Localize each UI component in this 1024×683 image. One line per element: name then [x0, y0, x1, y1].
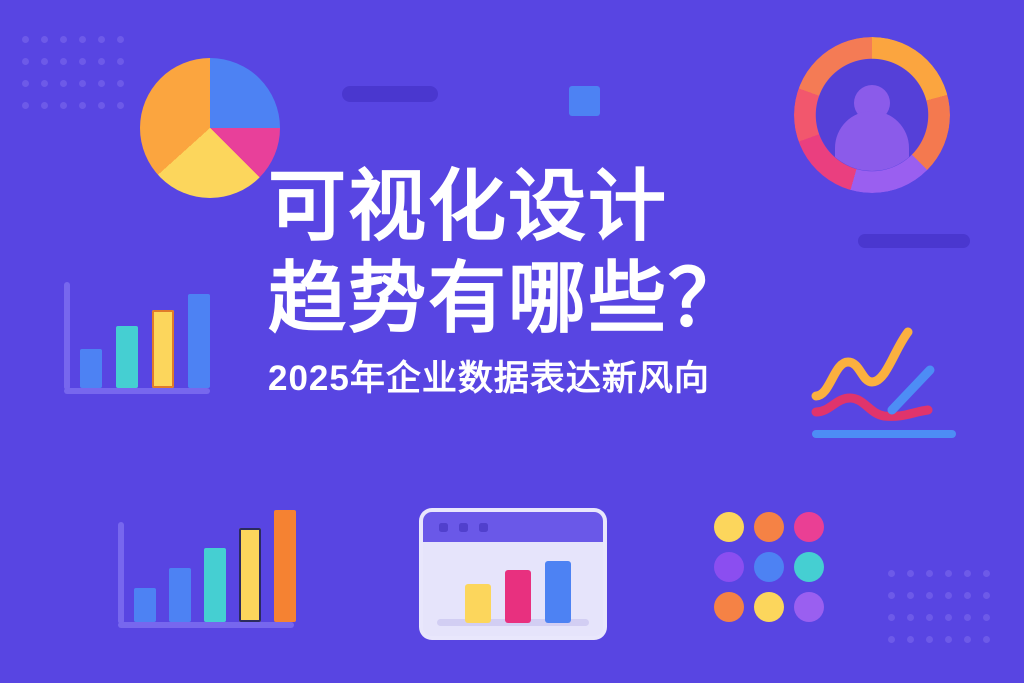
bar-3 [152, 310, 174, 388]
bar-1 [80, 349, 102, 388]
bar-3 [204, 548, 226, 622]
decor-dot [888, 636, 895, 643]
pie-chart-slices [140, 58, 280, 198]
y-axis [118, 522, 124, 624]
decor-dot [117, 36, 124, 43]
decor-dot [907, 570, 914, 577]
browser-mockup [423, 512, 603, 636]
decor-dot [964, 592, 971, 599]
browser-content [423, 542, 603, 636]
decor-dot [41, 80, 48, 87]
decor-dot [888, 614, 895, 621]
decor-dot [117, 80, 124, 87]
donut-chart [794, 37, 950, 193]
decor-dot [926, 570, 933, 577]
bar-2 [116, 326, 138, 388]
color-palette-grid [714, 512, 824, 622]
decor-dot [60, 102, 67, 109]
palette-swatch-1-1[interactable] [714, 512, 744, 542]
decor-dot [964, 570, 971, 577]
line-chart [808, 318, 960, 440]
bar-2 [169, 568, 191, 622]
decor-dot [983, 636, 990, 643]
palette-swatch-2-3[interactable] [794, 552, 824, 582]
decor-dot [41, 36, 48, 43]
line-series-orange [816, 332, 908, 396]
palette-swatch-2-1[interactable] [714, 552, 744, 582]
decor-dot [98, 36, 105, 43]
line-series-blue [892, 370, 930, 410]
bar-series [423, 542, 603, 636]
browser-titlebar [423, 512, 603, 542]
bar-4 [239, 528, 261, 622]
decor-dot [60, 58, 67, 65]
decor-dot [41, 102, 48, 109]
bar-chart-bottom-left [118, 510, 294, 628]
dot-pattern-bottom-right [888, 570, 988, 660]
decor-dot [964, 636, 971, 643]
decor-dot [79, 80, 86, 87]
decor-dot [22, 36, 29, 43]
bar-1 [134, 588, 156, 622]
decor-dot [98, 58, 105, 65]
palette-swatch-2-2[interactable] [754, 552, 784, 582]
decor-dot [22, 102, 29, 109]
decor-pill-top [342, 86, 438, 102]
bar-chart-top-left [64, 282, 210, 394]
page-title-line-2: 趋势有哪些？ [268, 252, 808, 344]
decor-dot [98, 80, 105, 87]
decor-dot [60, 80, 67, 87]
decor-dot [79, 36, 86, 43]
browser-bar-3 [545, 561, 571, 623]
decor-dot [907, 592, 914, 599]
page-title-line-1: 可视化设计 [268, 160, 808, 252]
browser-bar-2 [505, 570, 531, 623]
palette-swatch-3-3[interactable] [794, 592, 824, 622]
bar-4 [188, 294, 210, 388]
dot-pattern-top-left [22, 36, 122, 126]
decor-dot [964, 614, 971, 621]
decor-square-blue [569, 86, 600, 116]
decor-dot [907, 614, 914, 621]
x-axis [118, 622, 294, 628]
pie-chart [140, 58, 280, 198]
decor-dot [926, 636, 933, 643]
decor-dot [79, 102, 86, 109]
bar-series [134, 510, 296, 622]
decor-dot [983, 570, 990, 577]
browser-bar-1 [465, 584, 491, 623]
decor-dot [983, 614, 990, 621]
decor-dot [888, 592, 895, 599]
decor-dot [60, 36, 67, 43]
line-chart-svg [808, 318, 960, 440]
decor-dot [117, 58, 124, 65]
palette-swatch-1-3[interactable] [794, 512, 824, 542]
decor-dot [983, 592, 990, 599]
decor-dot [41, 58, 48, 65]
decor-dot [22, 58, 29, 65]
decor-dot [117, 102, 124, 109]
palette-swatch-3-1[interactable] [714, 592, 744, 622]
avatar-icon-body [835, 111, 909, 171]
bar-5 [274, 510, 296, 622]
page-subtitle: 2025年企业数据表达新风向 [268, 356, 808, 402]
browser-dot-2[interactable] [459, 523, 468, 532]
line-series-pink [816, 398, 928, 416]
decor-pill-right [858, 234, 970, 248]
decor-dot [79, 58, 86, 65]
bar-series [80, 286, 210, 388]
decor-dot [907, 636, 914, 643]
decor-dot [98, 102, 105, 109]
decor-dot [22, 80, 29, 87]
x-axis [64, 388, 210, 394]
decor-dot [926, 592, 933, 599]
palette-swatch-1-2[interactable] [754, 512, 784, 542]
decor-dot [945, 636, 952, 643]
donut-chart-center [816, 59, 928, 171]
decor-dot [945, 592, 952, 599]
decor-dot [945, 570, 952, 577]
palette-swatch-3-2[interactable] [754, 592, 784, 622]
decor-dot [926, 614, 933, 621]
browser-dot-3[interactable] [479, 523, 488, 532]
headline-block: 可视化设计 趋势有哪些？ 2025年企业数据表达新风向 [268, 160, 808, 402]
decor-dot [888, 570, 895, 577]
browser-dot-1[interactable] [439, 523, 448, 532]
poster-canvas: 可视化设计 趋势有哪些？ 2025年企业数据表达新风向 [0, 0, 1024, 683]
y-axis [64, 282, 70, 390]
decor-dot [945, 614, 952, 621]
